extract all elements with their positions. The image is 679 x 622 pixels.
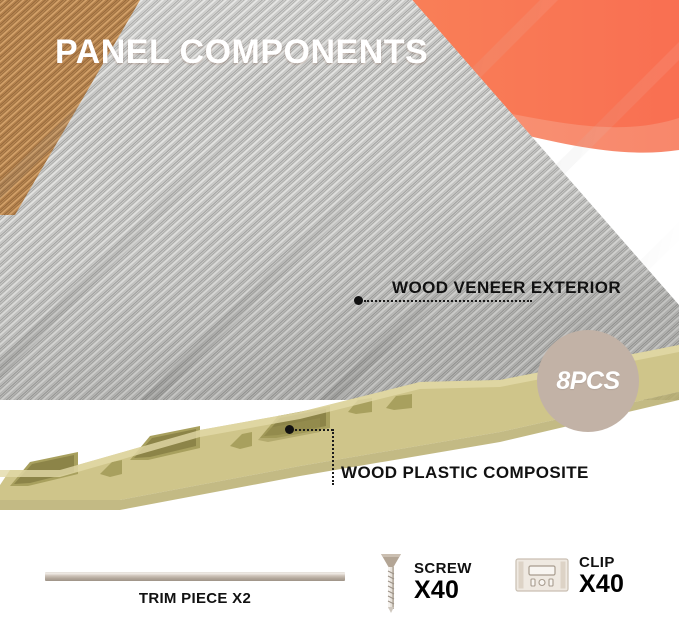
leader-line-wpc-horizontal <box>295 429 333 431</box>
accessory-row: TRIM PIECE X2 SCREW X40 <box>0 525 679 622</box>
accessory-quantity-clip: X40 <box>579 572 624 597</box>
trim-bar-icon <box>45 572 345 581</box>
callout-label-wood-veneer: WOOD VENEER EXTERIOR <box>392 278 621 298</box>
accessory-label-clip: CLIP <box>579 555 624 570</box>
quantity-badge: 8PCS <box>537 330 639 432</box>
leader-line-wood-veneer <box>364 300 532 302</box>
accessory-item-clip: CLIP X40 <box>515 555 624 597</box>
callout-dot-wood-veneer <box>354 296 363 305</box>
page-title: PANEL COMPONENTS <box>55 33 428 72</box>
callout-dot-wood-plastic-composite <box>285 425 294 434</box>
accessory-item-screw: SCREW X40 <box>378 551 472 613</box>
screw-icon <box>378 551 404 613</box>
panel-product-image <box>0 0 679 520</box>
product-infographic: PANEL COMPONENTS <box>0 0 679 622</box>
accessory-label-trim-piece: TRIM PIECE X2 <box>45 590 345 607</box>
leader-line-wpc-vertical <box>332 429 334 485</box>
accessory-label-screw: SCREW <box>414 561 472 576</box>
callout-label-wood-plastic-composite: WOOD PLASTIC COMPOSITE <box>341 463 589 483</box>
clip-icon <box>515 555 569 597</box>
accessory-quantity-screw: X40 <box>414 578 472 603</box>
quantity-badge-label: 8PCS <box>556 367 619 396</box>
